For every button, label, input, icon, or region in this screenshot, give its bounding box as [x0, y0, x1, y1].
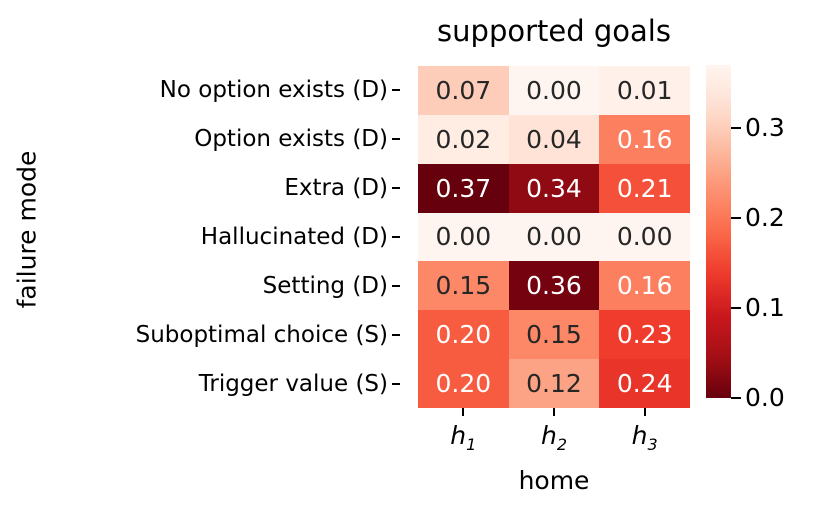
heatmap-cell: 0.37	[418, 164, 509, 213]
heatmap-grid: 0.070.000.010.020.040.160.370.340.210.00…	[418, 66, 690, 408]
y-tick-mark	[392, 236, 400, 238]
y-tick-mark	[392, 89, 400, 91]
x-tick-label: h1	[450, 421, 476, 454]
x-tick-label-subscript: 3	[647, 435, 657, 454]
heatmap-cell-value: 0.34	[526, 176, 582, 201]
heatmap-cell-value: 0.15	[435, 273, 491, 298]
heatmap-cell: 0.15	[418, 261, 509, 310]
x-tick-col: h1	[418, 408, 509, 464]
heatmap-cell-value: 0.20	[435, 371, 491, 396]
heatmap-cell-value: 0.24	[617, 371, 673, 396]
y-tick-label-row: Setting (D)	[0, 261, 400, 310]
colorbar-tick-label: 0.3	[745, 115, 785, 140]
x-tick-label: h3	[632, 421, 658, 454]
heatmap-cell-value: 0.00	[617, 224, 673, 249]
heatmap-cell-value: 0.00	[435, 224, 491, 249]
heatmap-cell-value: 0.12	[526, 371, 582, 396]
x-tick-mark	[644, 408, 646, 416]
y-tick-label: Extra (D)	[284, 175, 400, 201]
y-tick-label-row: Suboptimal choice (S)	[0, 310, 400, 359]
heatmap-cell-value: 0.02	[435, 127, 491, 152]
heatmap-cell: 0.07	[418, 66, 509, 115]
chart-title: supported goals	[418, 14, 690, 48]
colorbar-tick-label: 0.1	[745, 295, 785, 320]
heatmap-cell: 0.00	[509, 213, 600, 262]
y-tick-mark	[392, 383, 400, 385]
y-tick-label-row: Extra (D)	[0, 164, 400, 213]
colorbar: 0.30.20.10.0	[706, 65, 731, 398]
heatmap-cell-value: 0.04	[526, 127, 582, 152]
x-tick-label-base: h	[450, 421, 466, 450]
colorbar-tick-mark	[731, 217, 741, 219]
heatmap-cell: 0.00	[599, 213, 690, 262]
y-tick-label-row: Trigger value (S)	[0, 359, 400, 408]
heatmap-cell: 0.12	[509, 359, 600, 408]
heatmap-cell: 0.34	[509, 164, 600, 213]
y-tick-label-row: Option exists (D)	[0, 115, 400, 164]
heatmap-cell: 0.15	[509, 310, 600, 359]
y-tick-mark	[392, 138, 400, 140]
y-tick-label-row: Hallucinated (D)	[0, 213, 400, 262]
x-tick-label-base: h	[632, 421, 648, 450]
heatmap-cell: 0.01	[599, 66, 690, 115]
heatmap-cell-value: 0.15	[526, 322, 582, 347]
x-tick-label-subscript: 2	[557, 435, 567, 454]
heatmap-cell-value: 0.36	[526, 273, 582, 298]
colorbar-gradient	[706, 65, 731, 398]
heatmap-cell: 0.23	[599, 310, 690, 359]
y-tick-labels: No option exists (D)Option exists (D)Ext…	[0, 66, 400, 408]
heatmap-cell-value: 0.00	[526, 224, 582, 249]
heatmap-cell-value: 0.01	[617, 78, 673, 103]
colorbar-tick-mark	[731, 397, 741, 399]
heatmap-cell: 0.16	[599, 261, 690, 310]
heatmap-cell: 0.24	[599, 359, 690, 408]
colorbar-tick-mark	[731, 307, 741, 309]
colorbar-tick-label: 0.2	[745, 205, 785, 230]
heatmap-cell: 0.21	[599, 164, 690, 213]
y-tick-label: Hallucinated (D)	[201, 224, 400, 250]
x-axis-title: home	[418, 466, 690, 495]
heatmap-figure: supported goals failure mode home No opt…	[0, 0, 814, 520]
heatmap-cell-value: 0.23	[617, 322, 673, 347]
heatmap-cell-value: 0.00	[526, 78, 582, 103]
colorbar-tick-mark	[731, 127, 741, 129]
heatmap-cell: 0.16	[599, 115, 690, 164]
colorbar-tick-label: 0.0	[745, 385, 785, 410]
y-tick-label-row: No option exists (D)	[0, 66, 400, 115]
x-tick-label: h2	[541, 421, 567, 454]
heatmap-cell: 0.00	[509, 66, 600, 115]
heatmap-cell: 0.04	[509, 115, 600, 164]
heatmap-cell-value: 0.16	[617, 273, 673, 298]
heatmap-cell: 0.02	[418, 115, 509, 164]
y-tick-label: Setting (D)	[263, 273, 400, 299]
heatmap-cell: 0.00	[418, 213, 509, 262]
y-tick-label: No option exists (D)	[160, 77, 400, 103]
y-tick-mark	[392, 285, 400, 287]
heatmap-cell-value: 0.21	[617, 176, 673, 201]
heatmap-cell-value: 0.20	[435, 322, 491, 347]
x-tick-col: h3	[599, 408, 690, 464]
x-tick-label-subscript: 1	[466, 435, 476, 454]
heatmap-cell-value: 0.37	[435, 176, 491, 201]
heatmap-cell: 0.36	[509, 261, 600, 310]
x-tick-label-base: h	[541, 421, 557, 450]
y-tick-label: Suboptimal choice (S)	[136, 322, 400, 348]
y-tick-mark	[392, 334, 400, 336]
x-tick-mark	[462, 408, 464, 416]
heatmap-cell-value: 0.07	[435, 78, 491, 103]
x-tick-col: h2	[509, 408, 600, 464]
x-tick-labels: h1h2h3	[418, 408, 690, 464]
heatmap-cell-value: 0.16	[617, 127, 673, 152]
y-tick-label: Option exists (D)	[194, 126, 400, 152]
heatmap-cell: 0.20	[418, 359, 509, 408]
heatmap-cell: 0.20	[418, 310, 509, 359]
x-tick-mark	[553, 408, 555, 416]
y-tick-mark	[392, 187, 400, 189]
y-tick-label: Trigger value (S)	[199, 371, 400, 397]
